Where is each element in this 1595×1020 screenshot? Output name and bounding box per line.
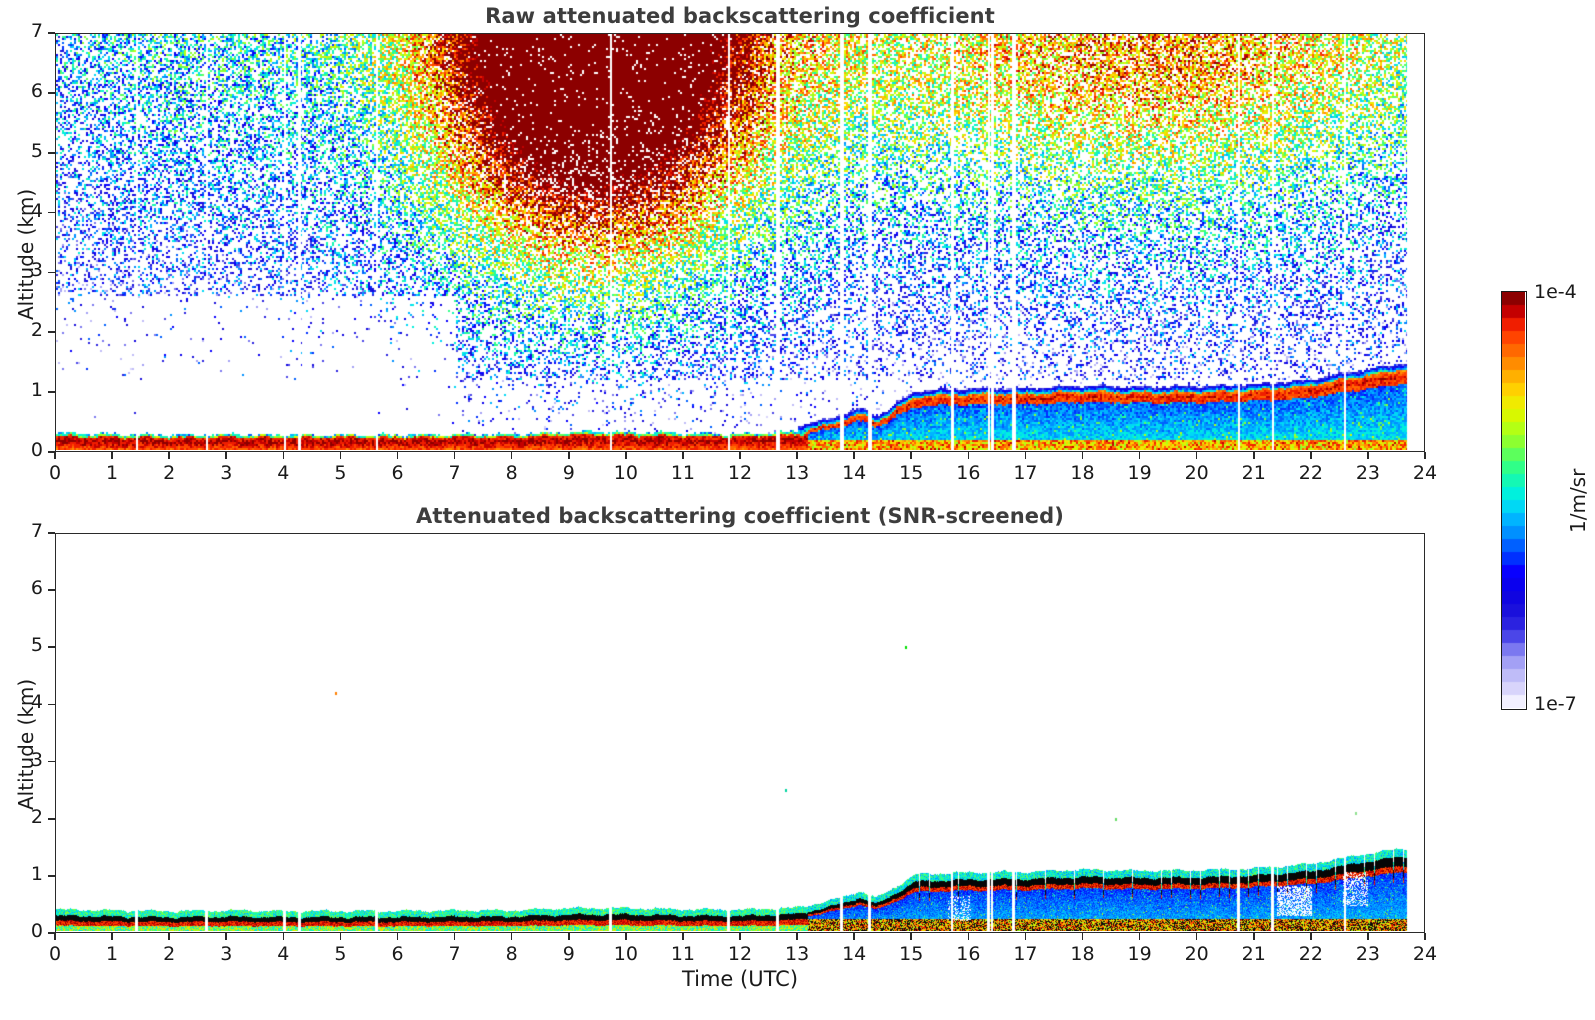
x-tick-label: 10: [604, 943, 648, 965]
x-tick-label: 18: [1061, 462, 1105, 484]
plot-area-raw: [55, 33, 1425, 452]
x-tick: [1253, 452, 1255, 459]
x-tick: [111, 933, 113, 940]
x-tick-label: 9: [547, 943, 591, 965]
x-tick: [340, 933, 342, 940]
x-tick: [54, 452, 56, 459]
x-tick-label: 8: [490, 943, 534, 965]
y-tick: [48, 391, 55, 393]
x-tick-label: 12: [718, 943, 762, 965]
y-tick-label: 7: [9, 520, 43, 542]
x-tick-label: 6: [376, 943, 420, 965]
x-tick-label: 24: [1403, 462, 1447, 484]
x-tick: [397, 452, 399, 459]
x-tick-label: 6: [376, 462, 420, 484]
x-tick: [1196, 933, 1198, 940]
y-tick-label: 2: [9, 806, 43, 828]
x-tick-label: 0: [33, 943, 77, 965]
x-tick: [910, 933, 912, 940]
x-tick: [1310, 933, 1312, 940]
x-tick-label: 14: [832, 462, 876, 484]
x-tick-label: 22: [1289, 462, 1333, 484]
x-tick: [54, 933, 56, 940]
y-tick: [48, 704, 55, 706]
x-tick: [168, 452, 170, 459]
x-tick: [283, 933, 285, 940]
x-tick: [340, 452, 342, 459]
y-tick: [48, 32, 55, 34]
x-tick-label: 9: [547, 462, 591, 484]
y-tick-label: 5: [9, 634, 43, 656]
y-tick: [48, 589, 55, 591]
x-tick-label: 4: [261, 462, 305, 484]
y-tick: [48, 331, 55, 333]
x-tick-label: 7: [433, 943, 477, 965]
y-tick-label: 1: [9, 379, 43, 401]
x-tick-label: 1: [90, 943, 134, 965]
x-tick: [1025, 933, 1027, 940]
x-tick-label: 15: [889, 462, 933, 484]
x-tick: [1253, 933, 1255, 940]
x-tick-label: 4: [261, 943, 305, 965]
x-tick-label: 15: [889, 943, 933, 965]
x-tick-label: 7: [433, 462, 477, 484]
y-tick: [48, 875, 55, 877]
x-tick: [968, 452, 970, 459]
x-tick: [111, 452, 113, 459]
x-tick: [682, 933, 684, 940]
heatmap-canvas-raw: [56, 34, 1423, 450]
y-tick-label: 3: [9, 749, 43, 771]
y-tick-label: 2: [9, 319, 43, 341]
x-tick-label: 21: [1232, 462, 1276, 484]
x-tick: [397, 933, 399, 940]
x-tick: [1082, 452, 1084, 459]
x-tick: [910, 452, 912, 459]
y-tick-label: 4: [9, 691, 43, 713]
x-tick: [853, 452, 855, 459]
y-tick: [48, 152, 55, 154]
x-tick-label: 23: [1346, 943, 1390, 965]
x-tick-label: 17: [1003, 462, 1047, 484]
y-tick: [48, 272, 55, 274]
x-tick: [454, 452, 456, 459]
colorbar-unit-label: 1/m/sr: [1566, 469, 1590, 533]
x-tick-label: 13: [775, 943, 819, 965]
x-tick-label: 2: [147, 462, 191, 484]
x-tick-label: 21: [1232, 943, 1276, 965]
y-tick-label: 7: [9, 20, 43, 42]
x-tick-label: 16: [946, 462, 990, 484]
y-tick: [48, 932, 55, 934]
x-tick-label: 16: [946, 943, 990, 965]
y-tick: [48, 646, 55, 648]
x-tick-label: 10: [604, 462, 648, 484]
x-tick: [1367, 452, 1369, 459]
x-tick: [1367, 933, 1369, 940]
y-tick-label: 6: [9, 577, 43, 599]
x-tick: [625, 452, 627, 459]
y-tick: [48, 92, 55, 94]
x-tick: [568, 452, 570, 459]
x-tick-label: 17: [1003, 943, 1047, 965]
x-tick-label: 18: [1061, 943, 1105, 965]
x-tick: [1139, 452, 1141, 459]
y-tick: [48, 818, 55, 820]
x-tick: [853, 933, 855, 940]
heatmap-canvas-screened: [56, 534, 1423, 931]
x-tick: [1196, 452, 1198, 459]
x-tick: [968, 933, 970, 940]
x-tick: [1025, 452, 1027, 459]
plot-area-screened: [55, 533, 1425, 933]
colorbar-canvas: [1502, 292, 1525, 708]
x-tick-label: 5: [318, 462, 362, 484]
x-tick: [511, 452, 513, 459]
y-tick-label: 4: [9, 200, 43, 222]
colorbar-min-label: 1e-7: [1534, 693, 1577, 715]
panel-title-screened: Attenuated backscattering coefficient (S…: [55, 504, 1425, 528]
x-tick-label: 0: [33, 462, 77, 484]
x-tick: [739, 933, 741, 940]
lidar-backscatter-figure: Raw attenuated backscattering coefficien…: [0, 0, 1595, 1020]
x-tick-label: 12: [718, 462, 762, 484]
x-tick: [568, 933, 570, 940]
y-tick: [48, 451, 55, 453]
x-tick: [168, 933, 170, 940]
y-tick-label: 3: [9, 259, 43, 281]
y-tick: [48, 212, 55, 214]
x-tick-label: 5: [318, 943, 362, 965]
x-tick-label: 11: [661, 943, 705, 965]
x-tick: [225, 933, 227, 940]
x-tick-label: 2: [147, 943, 191, 965]
x-tick: [682, 452, 684, 459]
colorbar-max-label: 1e-4: [1534, 281, 1577, 303]
x-tick-label: 24: [1403, 943, 1447, 965]
x-tick: [1139, 933, 1141, 940]
x-tick: [454, 933, 456, 940]
y-tick-label: 1: [9, 863, 43, 885]
x-axis-label: Time (UTC): [55, 967, 1425, 991]
x-tick-label: 22: [1289, 943, 1333, 965]
x-tick: [796, 933, 798, 940]
x-tick-label: 19: [1118, 462, 1162, 484]
panel-title-raw: Raw attenuated backscattering coefficien…: [55, 4, 1425, 28]
x-tick: [1082, 933, 1084, 940]
x-tick: [511, 933, 513, 940]
y-tick-label: 0: [9, 439, 43, 461]
x-tick-label: 20: [1175, 943, 1219, 965]
x-tick-label: 3: [204, 943, 248, 965]
x-tick: [283, 452, 285, 459]
x-tick: [1424, 933, 1426, 940]
x-tick: [739, 452, 741, 459]
x-tick-label: 19: [1118, 943, 1162, 965]
x-tick: [225, 452, 227, 459]
x-tick-label: 23: [1346, 462, 1390, 484]
y-tick: [48, 761, 55, 763]
x-tick-label: 20: [1175, 462, 1219, 484]
x-tick-label: 11: [661, 462, 705, 484]
x-tick-label: 14: [832, 943, 876, 965]
x-tick-label: 3: [204, 462, 248, 484]
colorbar: [1501, 291, 1527, 710]
x-tick-label: 8: [490, 462, 534, 484]
x-tick: [1424, 452, 1426, 459]
x-tick: [625, 933, 627, 940]
x-tick-label: 1: [90, 462, 134, 484]
y-tick: [48, 532, 55, 534]
y-tick-label: 5: [9, 140, 43, 162]
x-tick: [1310, 452, 1312, 459]
x-tick-label: 13: [775, 462, 819, 484]
y-tick-label: 6: [9, 80, 43, 102]
x-tick: [796, 452, 798, 459]
y-tick-label: 0: [9, 920, 43, 942]
